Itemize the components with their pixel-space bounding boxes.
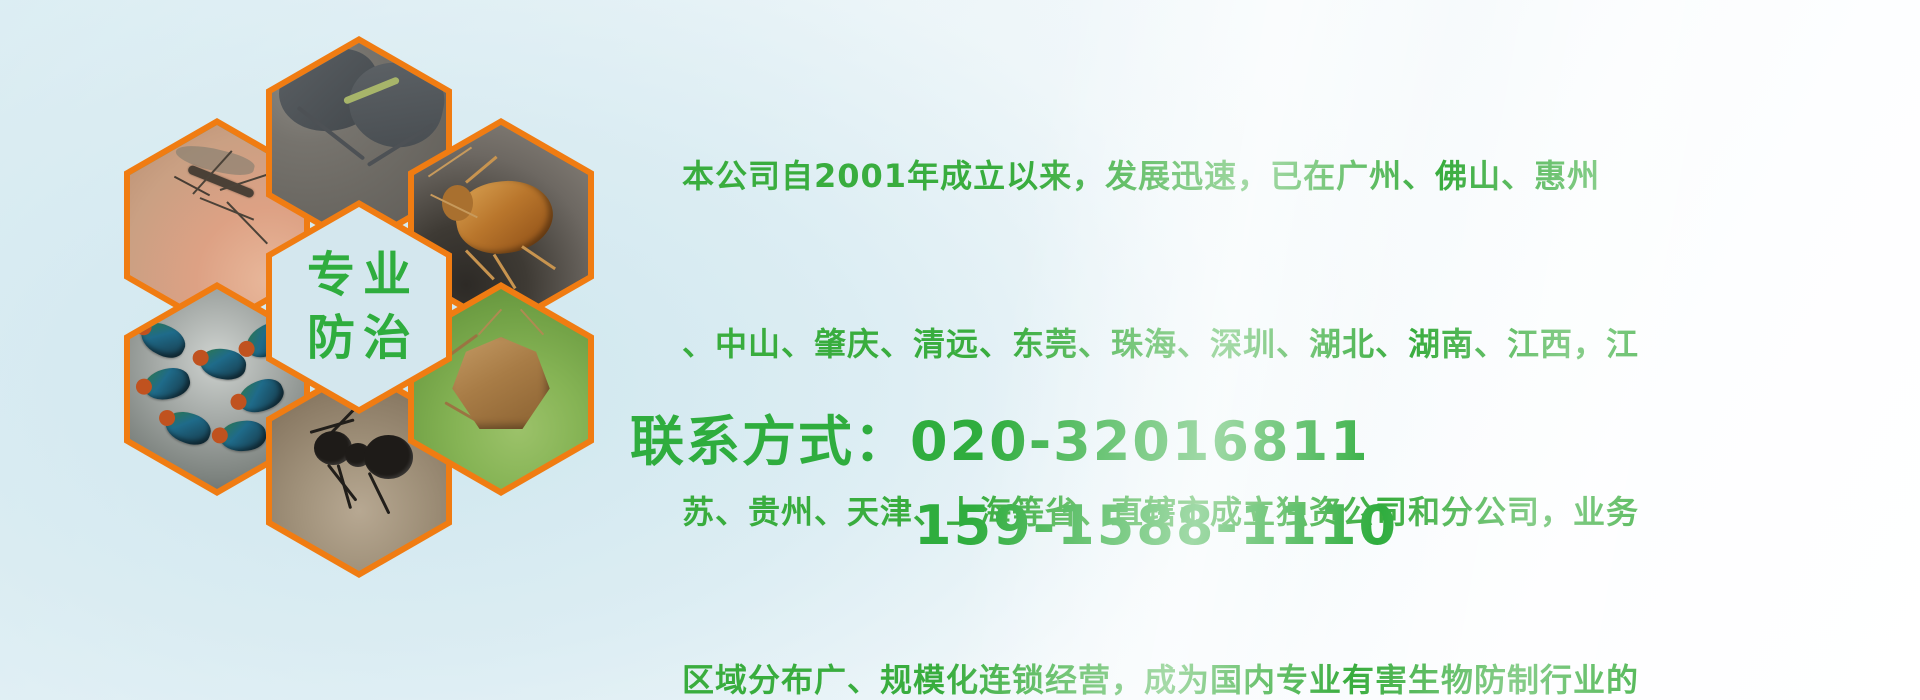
- intro-line: 、中山、肇庆、清远、东莞、珠海、深圳、湖北、湖南、江西，江: [618, 316, 1918, 372]
- slogan-text: 专业 防治: [272, 207, 446, 407]
- ant-abdomen-shape: [364, 435, 413, 479]
- fly-shape: [161, 407, 214, 450]
- fly-shape: [141, 364, 193, 404]
- company-intro-paragraph: 本公司自2001年成立以来，发展迅速，已在广州、佛山、惠州 、中山、肇庆、清远、…: [618, 36, 1918, 700]
- slogan-line-1: 专业: [299, 247, 419, 304]
- mosquito-leg-shape: [227, 201, 269, 244]
- cockroach-leg-shape: [493, 254, 517, 290]
- content-column: 本公司自2001年成立以来，发展迅速，已在广州、佛山、惠州 、中山、肇庆、清远、…: [618, 0, 1920, 700]
- cockroach-leg-shape: [521, 245, 556, 270]
- fly-shape: [219, 419, 268, 454]
- cockroach-leg-shape: [465, 249, 495, 280]
- promo-banner: 专业 防治 本公司自2001年成立以来，发展迅速，已在广州、佛山、惠州 、中山、…: [0, 0, 1920, 700]
- intro-line: 区域分布广、规模化连锁经营，成为国内专业有害生物防制行业的: [618, 652, 1918, 700]
- contact-primary-line[interactable]: 联系方式：020-32016811: [624, 400, 1914, 484]
- ant-leg-shape: [337, 464, 353, 509]
- slogan-line-2: 防治: [299, 310, 419, 367]
- stinkbug-antenna-shape: [520, 309, 544, 336]
- stinkbug-antenna-shape: [478, 309, 502, 336]
- cockroach-leg-shape: [465, 156, 498, 184]
- hex-photo-cluster: 专业 防治: [100, 0, 660, 580]
- fly-shape: [136, 316, 190, 363]
- intro-line: 本公司自2001年成立以来，发展迅速，已在广州、佛山、惠州: [618, 148, 1918, 204]
- hex-inner-center: 专业 防治: [272, 207, 446, 407]
- contact-block: 联系方式：020-32016811 159-1588-1110: [624, 400, 1914, 568]
- contact-secondary-line[interactable]: 159-1588-1110: [624, 484, 1914, 568]
